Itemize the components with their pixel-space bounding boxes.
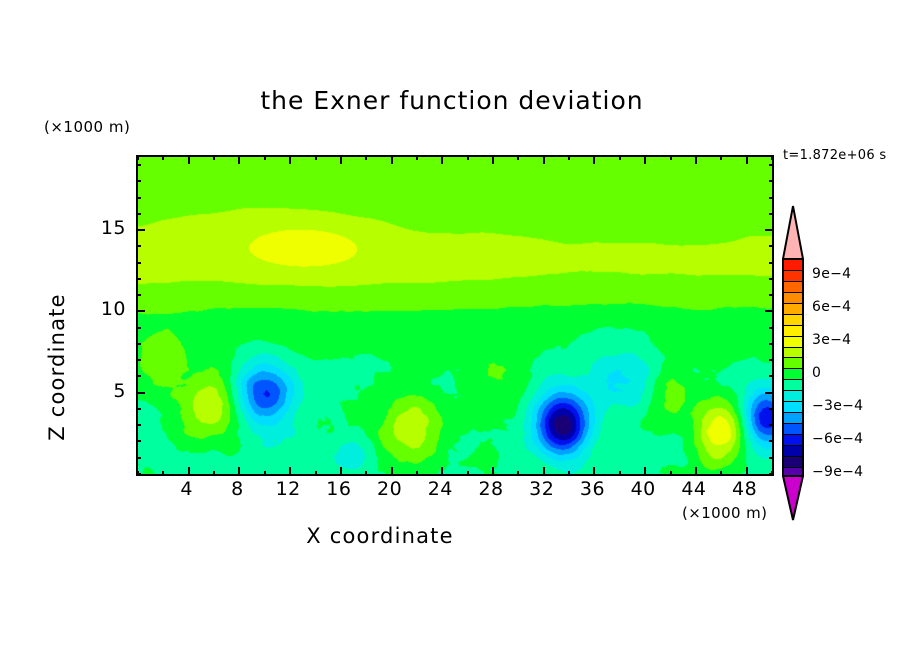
x-axis-tick <box>593 155 595 164</box>
x-axis-tick-label: 16 <box>326 478 351 500</box>
y-axis-tick <box>136 310 145 312</box>
y-axis-tick <box>769 473 774 475</box>
x-axis-tick <box>365 471 367 476</box>
colorbar-band <box>784 391 802 402</box>
x-axis-tick-label: 12 <box>276 478 301 500</box>
y-axis-tick <box>136 197 141 199</box>
y-axis-tick <box>136 180 141 182</box>
contour-field <box>138 157 772 474</box>
colorbar-band <box>784 271 802 282</box>
y-axis-title: Z coordinate <box>45 267 69 467</box>
colorbar-tick-label: 6e−4 <box>812 299 851 315</box>
x-axis-tick <box>593 467 595 476</box>
x-axis-tick <box>720 155 722 160</box>
contour-plot-area[interactable] <box>136 155 774 476</box>
y-axis-tick <box>136 229 145 231</box>
x-axis-tick <box>568 155 570 160</box>
y-axis-tick <box>769 278 774 280</box>
y-axis-tick <box>769 262 774 264</box>
x-axis-tick <box>162 155 164 160</box>
colorbar-under-arrow <box>782 475 804 521</box>
x-axis-tick-label: 20 <box>377 478 402 500</box>
colorbar-band <box>784 282 802 293</box>
x-axis-tick <box>695 155 697 164</box>
colorbar-band <box>784 358 802 369</box>
colorbar-tick-label: −3e−4 <box>812 398 863 414</box>
x-axis-tick <box>391 155 393 164</box>
colorbar-over-arrow <box>782 205 804 260</box>
x-axis-tick <box>264 155 266 160</box>
x-axis-tick <box>492 467 494 476</box>
x-axis-tick <box>264 471 266 476</box>
y-axis-tick <box>769 343 774 345</box>
x-axis-tick <box>644 155 646 164</box>
y-axis-tick <box>136 245 141 247</box>
y-axis-tick-label: 5 <box>90 380 126 402</box>
x-axis-tick <box>365 155 367 160</box>
colorbar-band <box>784 348 802 359</box>
x-axis-tick <box>517 155 519 160</box>
x-axis-tick <box>162 471 164 476</box>
x-axis-tick <box>238 467 240 476</box>
y-axis-tick <box>765 310 774 312</box>
x-axis-tick <box>289 155 291 164</box>
x-axis-units-label: (×1000 m) <box>682 504 767 522</box>
y-axis-tick <box>765 229 774 231</box>
colorbar-band <box>784 304 802 315</box>
y-axis-units-label: (×1000 m) <box>44 118 130 136</box>
colorbar-band <box>784 402 802 413</box>
x-axis-tick <box>391 467 393 476</box>
x-axis-tick <box>441 155 443 164</box>
colorbar-tick-label: 0 <box>812 365 821 381</box>
x-axis-tick <box>771 155 773 160</box>
x-axis-tick <box>289 467 291 476</box>
y-axis-tick <box>136 424 141 426</box>
colorbar-band <box>784 435 802 446</box>
colorbar-band <box>784 315 802 326</box>
x-axis-tick-label: 40 <box>631 478 656 500</box>
y-axis-tick <box>769 457 774 459</box>
colorbar-tick-label: −6e−4 <box>812 431 863 447</box>
colorbar-band <box>784 380 802 391</box>
colorbar-band <box>784 369 802 380</box>
colorbar-band <box>784 326 802 337</box>
y-axis-tick <box>136 164 141 166</box>
y-axis-tick-label: 15 <box>90 217 126 239</box>
colorbar-band <box>784 413 802 424</box>
x-axis-tick-label: 36 <box>580 478 605 500</box>
x-axis-tick-label: 8 <box>231 478 244 500</box>
colorbar-tick-label: 3e−4 <box>812 332 851 348</box>
y-axis-tick <box>136 440 141 442</box>
y-axis-tick <box>769 408 774 410</box>
colorbar-band <box>784 424 802 435</box>
x-axis-tick <box>340 467 342 476</box>
x-axis-tick <box>137 155 139 160</box>
colorbar-band <box>784 457 802 468</box>
x-axis-tick <box>188 155 190 164</box>
y-axis-tick <box>136 457 141 459</box>
page-title: the Exner function deviation <box>0 86 904 115</box>
colorbar-band <box>784 260 802 271</box>
x-axis-tick <box>238 155 240 164</box>
x-axis-tick <box>416 155 418 160</box>
colorbar-band <box>784 337 802 348</box>
colorbar-band <box>784 446 802 457</box>
y-axis-tick <box>136 213 141 215</box>
y-axis-tick <box>769 359 774 361</box>
x-axis-tick <box>644 467 646 476</box>
x-axis-tick <box>568 471 570 476</box>
x-axis-tick-label: 4 <box>180 478 193 500</box>
x-axis-tick-label: 24 <box>428 478 453 500</box>
y-axis-tick <box>769 180 774 182</box>
colorbar[interactable]: 9e−46e−43e−40−3e−4−6e−4−9e−4 <box>782 205 902 515</box>
x-axis-title: X coordinate <box>0 524 760 548</box>
x-axis-tick <box>467 471 469 476</box>
y-axis-tick <box>769 245 774 247</box>
y-axis-tick <box>769 375 774 377</box>
y-axis-tick <box>136 473 141 475</box>
x-axis-tick <box>517 471 519 476</box>
colorbar-tick-label: 9e−4 <box>812 266 851 282</box>
y-axis-tick-label: 10 <box>90 298 126 320</box>
x-axis-tick-label: 44 <box>681 478 706 500</box>
y-axis-tick <box>136 375 141 377</box>
x-axis-tick <box>670 471 672 476</box>
x-axis-tick-label: 48 <box>732 478 757 500</box>
y-axis-tick <box>136 278 141 280</box>
x-axis-tick <box>492 155 494 164</box>
x-axis-tick-label: 28 <box>478 478 503 500</box>
y-axis-tick <box>769 213 774 215</box>
y-axis-tick <box>136 343 141 345</box>
y-axis-tick <box>769 327 774 329</box>
y-axis-tick <box>769 294 774 296</box>
time-annotation: t=1.872e+06 s <box>783 148 886 163</box>
x-axis-tick <box>543 155 545 164</box>
x-axis-tick <box>416 471 418 476</box>
colorbar-bands <box>782 258 804 477</box>
x-axis-tick <box>213 471 215 476</box>
x-axis-tick <box>543 467 545 476</box>
x-axis-tick <box>619 471 621 476</box>
x-axis-tick <box>441 467 443 476</box>
y-axis-tick <box>769 197 774 199</box>
y-axis-tick <box>136 392 145 394</box>
y-axis-tick <box>136 327 141 329</box>
y-axis-tick <box>765 392 774 394</box>
x-axis-tick <box>670 155 672 160</box>
y-axis-tick <box>769 440 774 442</box>
y-axis-tick <box>136 359 141 361</box>
y-axis-tick <box>769 164 774 166</box>
x-axis-tick <box>213 155 215 160</box>
x-axis-tick <box>746 467 748 476</box>
x-axis-tick <box>619 155 621 160</box>
x-axis-tick <box>695 467 697 476</box>
y-axis-tick <box>136 294 141 296</box>
x-axis-tick <box>746 155 748 164</box>
x-axis-tick <box>315 471 317 476</box>
colorbar-tick-label: −9e−4 <box>812 464 863 480</box>
y-axis-tick <box>769 424 774 426</box>
x-axis-tick <box>720 471 722 476</box>
x-axis-tick-label: 32 <box>529 478 554 500</box>
x-axis-tick <box>467 155 469 160</box>
y-axis-tick <box>136 262 141 264</box>
colorbar-band <box>784 293 802 304</box>
y-axis-tick <box>136 408 141 410</box>
x-axis-tick <box>188 467 190 476</box>
x-axis-tick <box>315 155 317 160</box>
x-axis-tick <box>340 155 342 164</box>
